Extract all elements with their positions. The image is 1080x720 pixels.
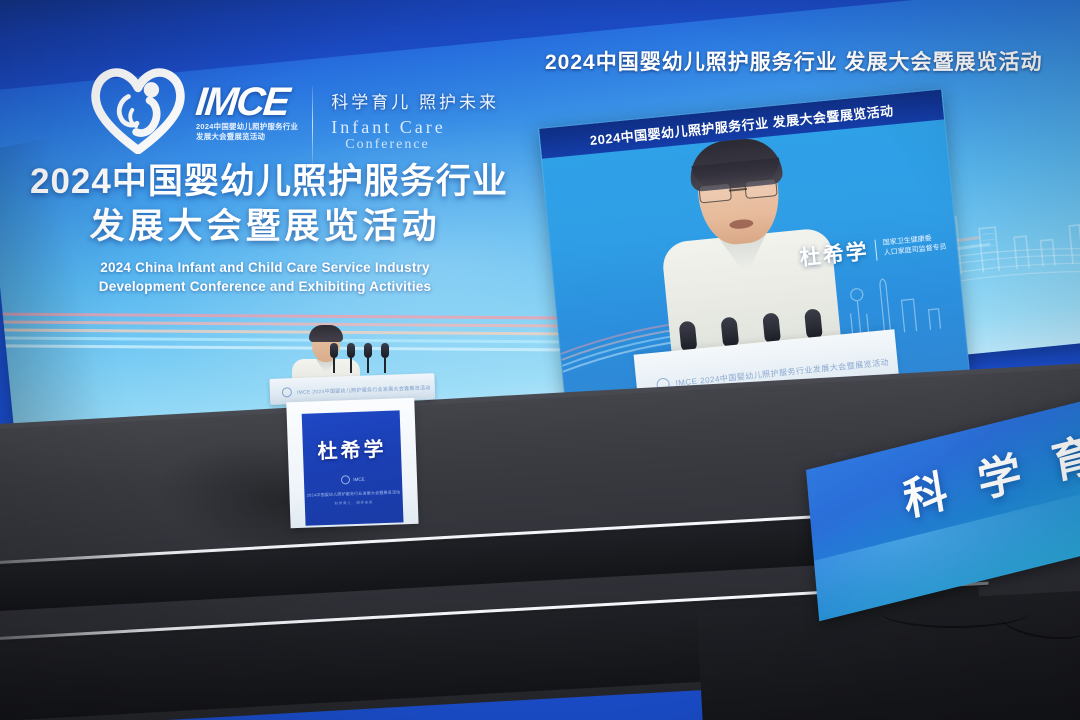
tagline-english-line2: Conference: [345, 137, 499, 153]
tagline-block: 科学育儿 照护未来 Infant Care Conference: [331, 62, 499, 153]
podium-nameplate-logo-text: IMCE: [353, 477, 364, 482]
tagline-english-line1: Infant Care: [331, 117, 499, 138]
microphone-icon: [330, 343, 338, 358]
video-screen-skyline: [833, 265, 959, 342]
main-title-english: 2024 China Infant and Child Care Service…: [30, 258, 500, 297]
imce-logo-lockup: IMCE 2024中国婴幼儿照护服务行业 发展大会暨展览活动 科学育儿 照护未来…: [90, 62, 499, 164]
microphone-icon: [762, 312, 781, 343]
imce-mark-icon: [282, 387, 292, 397]
microphone-icon: [804, 308, 823, 339]
main-title-english-line2: Development Conference and Exhibiting Ac…: [30, 277, 500, 297]
main-title-english-line1: 2024 China Infant and Child Care Service…: [30, 258, 500, 278]
live-video-screen: 2024中国婴幼儿照护服务行业 发展大会暨展览活动: [538, 88, 971, 418]
backdrop-top-banner-text: 2024中国婴幼儿照护服务行业 发展大会暨展览活动: [545, 46, 1080, 76]
microphone-icon: [364, 343, 372, 358]
video-speaker-name: 杜希学: [798, 235, 870, 272]
microphone-icon: [347, 343, 355, 358]
logo-divider: [312, 86, 313, 164]
imce-wordmark-sub-line2: 发展大会暨展览活动: [196, 132, 298, 141]
podium-nameplate-sub: 2024中国婴幼儿照护服务行业发展大会暨展览活动: [307, 489, 401, 498]
video-speaker-title: 国家卫生健康委 人口家庭司监督专员: [874, 232, 947, 260]
main-title-line1: 2024中国婴幼儿照护服务行业: [30, 160, 500, 205]
imce-wordmark-block: IMCE 2024中国婴幼儿照护服务行业 发展大会暨展览活动: [196, 62, 298, 141]
podium-top-logo-text: IMCE 2024中国婴幼儿照护服务行业发展大会暨展览活动: [297, 384, 431, 396]
imce-mark-icon: [341, 475, 350, 484]
conference-stage-photo: 2024中国婴幼儿照护服务行业 发展大会暨展览活动 IMCE 2024中国婴幼儿…: [0, 0, 1080, 720]
podium-nameplate-logo: IMCE: [341, 475, 365, 485]
podium-top-logo: IMCE 2024中国婴幼儿照护服务行业发展大会暨展览活动: [282, 382, 431, 397]
podium-nameplate: 杜希学 IMCE 2024中国婴幼儿照护服务行业发展大会暨展览活动 科学育儿 ·…: [302, 410, 404, 525]
stage-podium: IMCE 2024中国婴幼儿照护服务行业发展大会暨展览活动 杜希学 IMCE 2…: [269, 373, 439, 529]
stage-microphone-group: [330, 343, 410, 377]
microphone-icon: [720, 317, 739, 348]
microphone-icon: [679, 321, 698, 352]
podium-nameplate-sub2: 科学育儿 · 照护未来: [334, 500, 373, 506]
heart-mother-child-icon: [90, 62, 186, 154]
podium-nameplate-name: 杜希学: [317, 433, 387, 464]
tagline-chinese: 科学育儿 照护未来: [331, 88, 499, 113]
backdrop-main-title: 2024中国婴幼儿照护服务行业 发展大会暨展览活动 2024 China Inf…: [30, 160, 500, 297]
imce-wordmark: IMCE: [194, 84, 300, 121]
main-title-line2: 发展大会暨展览活动: [30, 205, 500, 250]
podium-body: 杜希学 IMCE 2024中国婴幼儿照护服务行业发展大会暨展览活动 科学育儿 ·…: [286, 398, 418, 528]
microphone-icon: [381, 343, 389, 358]
